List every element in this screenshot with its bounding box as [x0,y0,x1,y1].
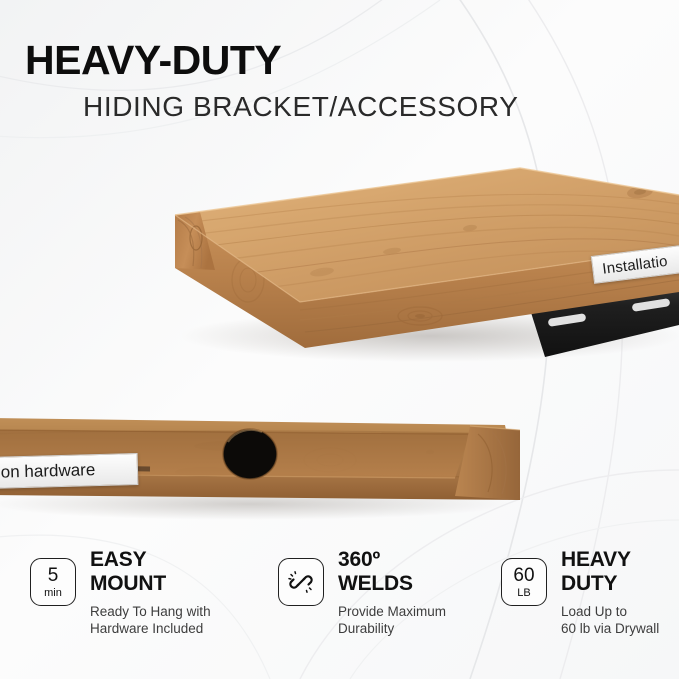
product-photo-shelf-with-bracket [0,120,679,380]
label-top-text: Installatio [601,252,668,277]
page-title: HEAVY-DUTY [25,40,665,81]
feature-heading: HEAVY DUTY [561,548,679,595]
feature-easy-mount: 5 min EASY MOUNT Ready To Hang with Hard… [0,548,268,658]
feature-description: Ready To Hang with Hardware Included [90,603,268,638]
badge-value: 60 [513,566,534,585]
chain-link-glyph [288,569,314,595]
badge-unit: LB [517,588,530,599]
page-subtitle: HIDING BRACKET/ACCESSORY [83,93,665,121]
installation-hardware-label-bottom: ion hardware [0,453,138,489]
feature-360-welds: 360º WELDS Provide Maximum Durability [268,548,493,658]
feature-heavy-duty: 60 LB HEAVY DUTY Load Up to 60 lb via Dr… [493,548,679,658]
headline-block: HEAVY-DUTY HIDING BRACKET/ACCESSORY [25,40,665,121]
badge-value: 5 [48,566,59,585]
feature-description: Provide Maximum Durability [338,603,493,638]
label-bottom-text: ion hardware [0,460,96,483]
feature-description: Load Up to 60 lb via Drywall [561,603,679,638]
feature-heading: 360º WELDS [338,548,493,595]
badge-unit: min [44,588,62,599]
clock-5-min-icon: 5 min [30,558,76,606]
chain-link-weld-icon [278,558,324,606]
feature-badge-row: 5 min EASY MOUNT Ready To Hang with Hard… [0,548,679,658]
product-infographic: HEAVY-DUTY HIDING BRACKET/ACCESSORY [0,0,679,679]
weight-60-lb-icon: 60 LB [501,558,547,606]
bracket-rod-hole [223,429,277,479]
feature-heading: EASY MOUNT [90,548,268,595]
